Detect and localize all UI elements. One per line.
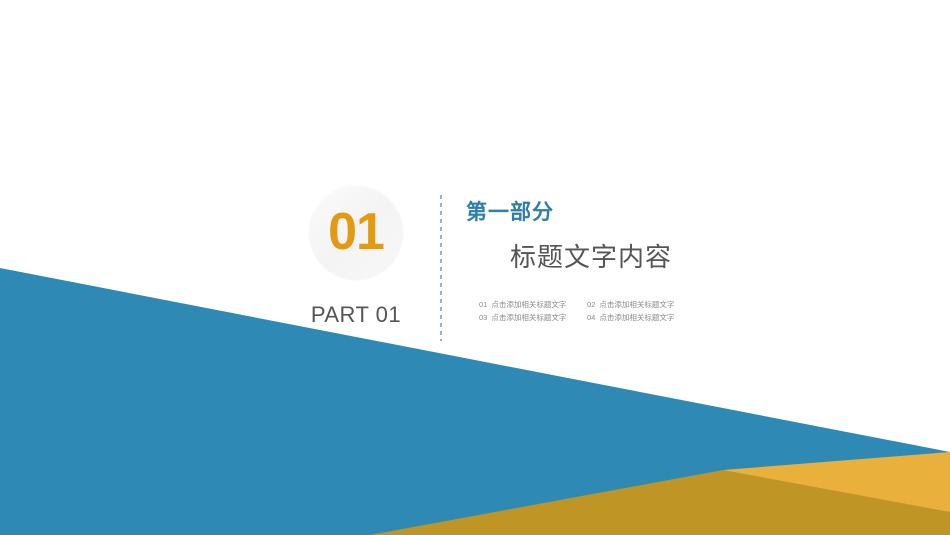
bullet-item: 02 点击添加相关标题文字	[587, 300, 711, 311]
bullet-item: 01 点击添加相关标题文字	[479, 300, 587, 311]
part-number-circle: 01	[309, 186, 403, 280]
part-number-block: 01 PART 01	[286, 186, 426, 328]
section-eyebrow-title: 第一部分	[466, 200, 766, 225]
slide-canvas: 01 PART 01 第一部分 标题文字内容 01 点击添加相关标题文字 02 …	[0, 0, 950, 535]
bullet-text: 点击添加相关标题文字	[491, 300, 587, 311]
bullet-number: 01	[479, 300, 487, 311]
bullet-item: 03 点击添加相关标题文字	[479, 313, 587, 324]
bullet-number: 04	[587, 313, 595, 324]
bullet-text: 点击添加相关标题文字	[491, 313, 587, 324]
bullet-grid: 01 点击添加相关标题文字 02 点击添加相关标题文字 03 点击添加相关标题文…	[479, 300, 711, 324]
bullet-number: 02	[587, 300, 595, 311]
bullet-text: 点击添加相关标题文字	[599, 300, 711, 311]
bullet-number: 03	[479, 313, 487, 324]
section-text-block: 第一部分 标题文字内容	[466, 200, 766, 273]
part-label: PART 01	[286, 302, 426, 328]
dotted-divider	[440, 195, 442, 341]
section-headline: 标题文字内容	[510, 242, 766, 273]
bullet-item: 04 点击添加相关标题文字	[587, 313, 711, 324]
bullet-text: 点击添加相关标题文字	[599, 313, 711, 324]
part-number-value: 01	[328, 206, 384, 258]
